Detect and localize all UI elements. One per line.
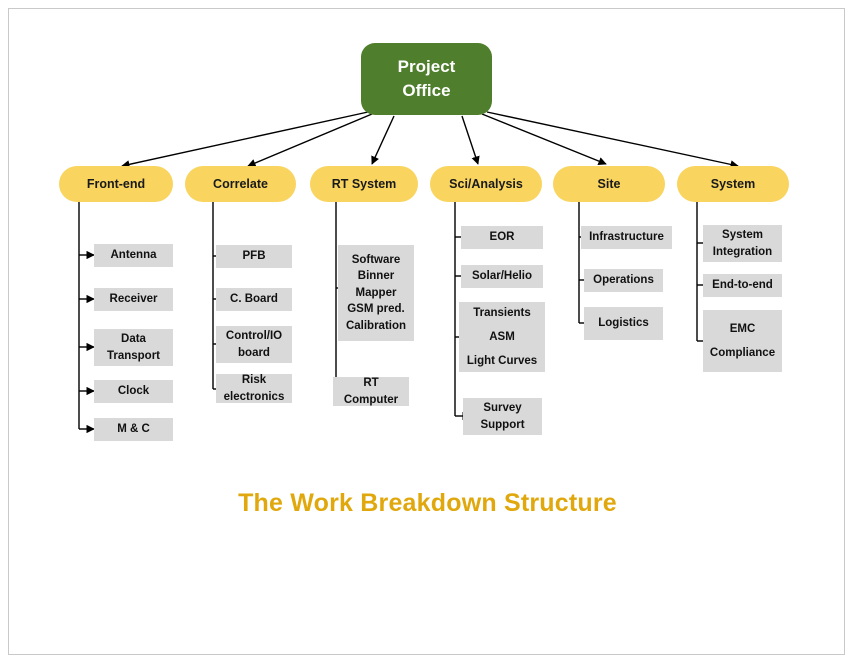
- node-system[interactable]: System: [677, 166, 789, 202]
- leaf-pfb-label: PFB: [216, 249, 292, 264]
- leaf-emc-compliance[interactable]: EMC Compliance: [703, 310, 782, 372]
- leaf-risk-electronics[interactable]: Risk electronics: [216, 374, 292, 403]
- leaf-data-transport-label: Data Transport: [94, 331, 173, 364]
- node-system-label: System: [711, 177, 755, 192]
- leaf-transients-asm-light-curves[interactable]: Transients ASM Light Curves: [459, 302, 545, 372]
- root-to-category-connectors: [122, 112, 738, 166]
- leaf-receiver-label: Receiver: [94, 292, 173, 307]
- node-rt-system-label: RT System: [332, 177, 397, 192]
- leaf-survey-support-label: Survey Support: [463, 400, 542, 433]
- leaf-eor[interactable]: EOR: [461, 226, 543, 249]
- leaf-infrastructure[interactable]: Infrastructure: [581, 226, 672, 249]
- node-site-label: Site: [598, 177, 621, 192]
- leaf-transients-asm-light-curves-label: Transients ASM Light Curves: [459, 302, 545, 372]
- leaf-m-and-c[interactable]: M & C: [94, 418, 173, 441]
- leaf-pfb[interactable]: PFB: [216, 245, 292, 268]
- leaf-c-board[interactable]: C. Board: [216, 288, 292, 311]
- leaf-clock-label: Clock: [94, 384, 173, 399]
- leaf-solar-helio-label: Solar/Helio: [461, 269, 543, 284]
- node-sci-analysis-label: Sci/Analysis: [449, 177, 523, 192]
- root-label-line1: Project: [398, 55, 456, 79]
- node-correlate[interactable]: Correlate: [185, 166, 296, 202]
- leaf-emc-compliance-label: EMC Compliance: [703, 317, 782, 365]
- leaf-receiver[interactable]: Receiver: [94, 288, 173, 311]
- leaf-logistics[interactable]: Logistics: [584, 307, 663, 340]
- leaf-software-stack-label: Software Binner Mapper GSM pred. Calibra…: [338, 252, 414, 335]
- leaf-antenna-label: Antenna: [94, 248, 173, 263]
- leaf-risk-electronics-label: Risk electronics: [216, 374, 292, 403]
- leaf-system-integration-label: System Integration: [703, 227, 782, 260]
- root-label-line2: Office: [398, 79, 456, 103]
- node-front-end-label: Front-end: [87, 177, 145, 192]
- leaf-rt-computer[interactable]: RT Computer: [333, 377, 409, 406]
- leaf-m-and-c-label: M & C: [94, 422, 173, 437]
- page-title: The Work Breakdown Structure: [0, 489, 855, 518]
- leaf-software-stack[interactable]: Software Binner Mapper GSM pred. Calibra…: [338, 245, 414, 341]
- node-front-end[interactable]: Front-end: [59, 166, 173, 202]
- leaf-eor-label: EOR: [461, 230, 543, 245]
- node-site[interactable]: Site: [553, 166, 665, 202]
- leaf-end-to-end-label: End-to-end: [703, 278, 782, 293]
- leaf-operations[interactable]: Operations: [584, 269, 663, 292]
- leaf-solar-helio[interactable]: Solar/Helio: [461, 265, 543, 288]
- node-project-office-label: Project Office: [398, 55, 456, 103]
- node-rt-system[interactable]: RT System: [310, 166, 418, 202]
- node-correlate-label: Correlate: [213, 177, 268, 192]
- leaf-antenna[interactable]: Antenna: [94, 244, 173, 267]
- leaf-clock[interactable]: Clock: [94, 380, 173, 403]
- leaf-control-io-board[interactable]: Control/IO board: [216, 326, 292, 363]
- leaf-rt-computer-label: RT Computer: [333, 377, 409, 406]
- wbs-slide: Project Office Front-end Correlate RT Sy…: [0, 0, 855, 662]
- leaf-logistics-label: Logistics: [584, 316, 663, 331]
- node-project-office[interactable]: Project Office: [361, 43, 492, 115]
- leaf-control-io-board-label: Control/IO board: [216, 328, 292, 361]
- leaf-infrastructure-label: Infrastructure: [581, 230, 672, 245]
- leaf-survey-support[interactable]: Survey Support: [463, 398, 542, 435]
- leaf-operations-label: Operations: [584, 273, 663, 288]
- leaf-system-integration[interactable]: System Integration: [703, 225, 782, 262]
- leaf-c-board-label: C. Board: [216, 292, 292, 307]
- leaf-data-transport[interactable]: Data Transport: [94, 329, 173, 366]
- leaf-end-to-end[interactable]: End-to-end: [703, 274, 782, 297]
- node-sci-analysis[interactable]: Sci/Analysis: [430, 166, 542, 202]
